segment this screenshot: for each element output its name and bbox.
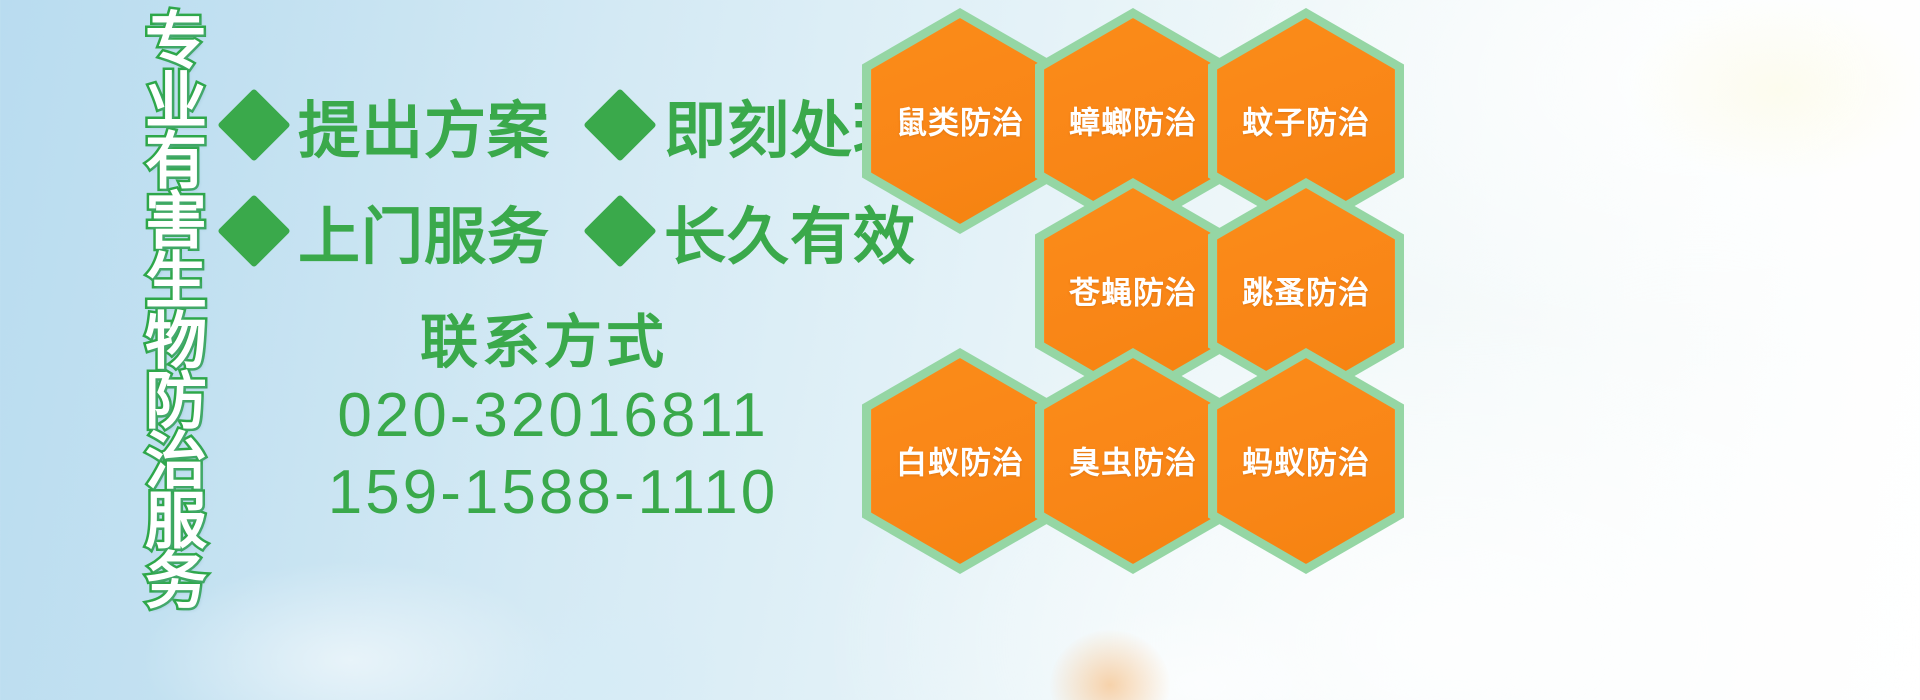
service-label: 蟑螂防治 [1035,98,1231,143]
background-glow-orange [1050,630,1170,700]
service-hex-rodent[interactable]: 鼠类防治 [862,8,1058,234]
service-label: 蚊子防治 [1208,98,1404,143]
background-glow-center [1040,600,1360,700]
diamond-icon [583,88,657,162]
feature-label: 上门服务 [298,186,550,276]
service-honeycomb: 鼠类防治 蟑螂防治 蚊子防治 苍蝇防治 跳蚤防治 白蚁防治 臭虫防治 蚂蚁防治 [862,8,1462,568]
service-hex-ant[interactable]: 蚂蚁防治 [1208,348,1404,574]
service-label: 白蚁防治 [862,438,1058,483]
feature-label: 提出方案 [298,80,550,170]
service-hex-termite[interactable]: 白蚁防治 [862,348,1058,574]
service-label: 苍蝇防治 [1035,268,1231,313]
phone-number-mobile[interactable]: 159-1588-1110 [228,454,868,532]
service-label: 蚂蚁防治 [1208,438,1404,483]
contact-block: 联系方式 020-32016811 159-1588-1110 [228,310,868,532]
background-glow-topright [1630,0,1920,180]
service-hex-bedbug[interactable]: 臭虫防治 [1035,348,1231,574]
feature-row: 上门服务 长久有效 [228,178,868,284]
vertical-slogan: 专业有害生物防治服务 [108,8,200,608]
diamond-icon [217,88,291,162]
service-label: 鼠类防治 [862,98,1058,143]
phone-number-landline[interactable]: 020-32016811 [228,377,868,455]
feature-row: 提出方案 即刻处理 [228,72,868,178]
feature-list: 提出方案 即刻处理 上门服务 长久有效 [228,72,868,284]
background-glow-left-2 [470,600,730,700]
diamond-icon [217,194,291,268]
service-label: 臭虫防治 [1035,438,1231,483]
service-label: 跳蚤防治 [1208,268,1404,313]
diamond-icon [583,194,657,268]
contact-heading: 联系方式 [228,310,868,377]
